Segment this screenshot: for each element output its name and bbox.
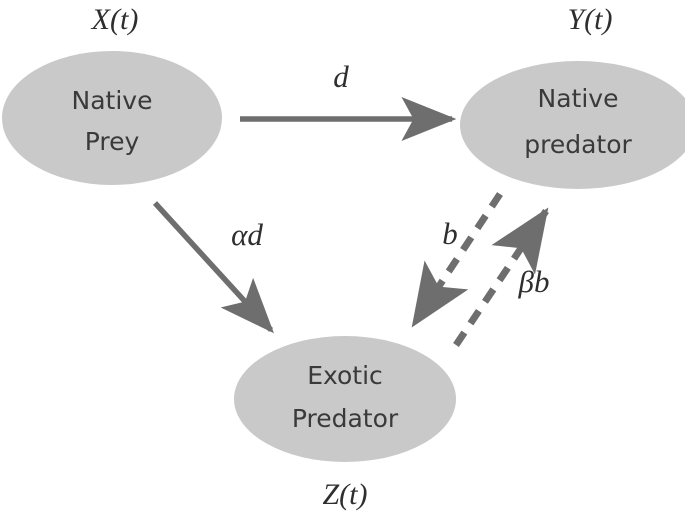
node-native-prey-label-line2: Prey <box>85 127 140 156</box>
node-native-prey-label-line1: Native <box>72 86 153 115</box>
node-native-predator[interactable]: Native predator <box>460 61 685 189</box>
variable-label-x: X(t) <box>91 3 139 36</box>
node-native-predator-ellipse[interactable] <box>460 61 685 189</box>
node-exotic-predator-ellipse[interactable] <box>234 336 456 462</box>
variable-label-z: Z(t) <box>323 478 368 511</box>
variable-label-y: Y(t) <box>568 3 613 36</box>
node-native-predator-label-line1: Native <box>538 84 619 113</box>
node-exotic-predator-label-line2: Predator <box>292 404 399 433</box>
edge-label-alpha-d: αd <box>231 217 263 252</box>
node-native-prey[interactable]: Native Prey <box>2 51 222 185</box>
diagram-canvas: Native Prey Native predator Exotic Preda… <box>0 0 685 528</box>
node-native-predator-label-line2: predator <box>524 130 632 159</box>
node-exotic-predator-label-line1: Exotic <box>307 361 383 390</box>
edge-native-predator-to-exotic-predator <box>414 194 500 324</box>
edge-label-d: d <box>333 59 349 94</box>
edge-label-beta-b: βb <box>518 264 550 299</box>
node-native-prey-ellipse[interactable] <box>2 51 222 185</box>
edge-label-b: b <box>442 216 458 251</box>
node-exotic-predator[interactable]: Exotic Predator <box>234 336 456 462</box>
diagram-svg: Native Prey Native predator Exotic Preda… <box>0 0 685 528</box>
